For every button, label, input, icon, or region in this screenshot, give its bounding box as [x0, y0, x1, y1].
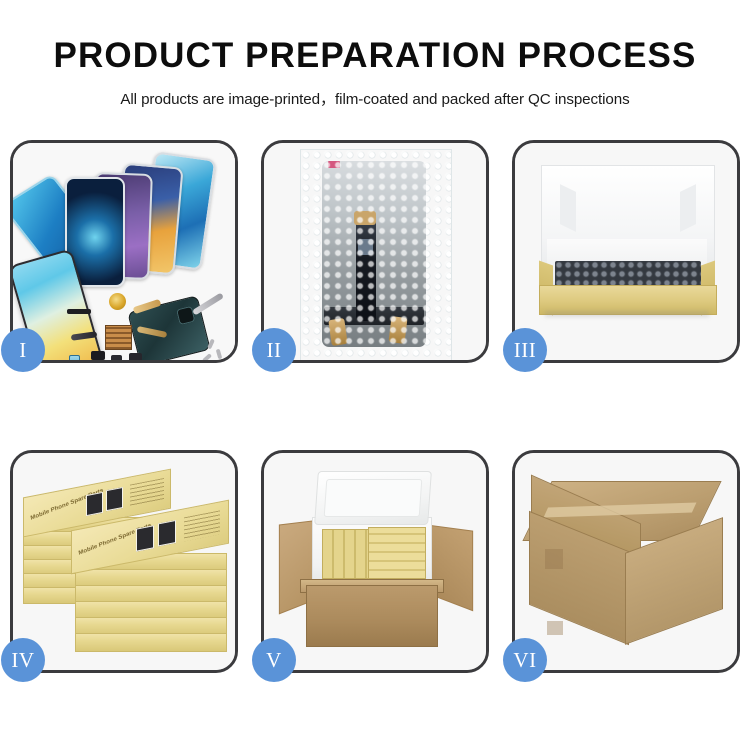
process-step-panel-3[interactable]: III: [512, 140, 740, 363]
step-badge-1: I: [1, 328, 45, 372]
step-badge-3: III: [503, 328, 547, 372]
step-5-image: [264, 453, 486, 670]
step-badge-5: V: [252, 638, 296, 682]
step-badge-4: IV: [1, 638, 45, 682]
process-step-grid: I II III: [10, 140, 740, 690]
step-4-image: Mobile Phone Spare Parts Mobile Phone Sp…: [13, 453, 235, 670]
coil-part: [109, 293, 126, 310]
step-3-image: [515, 143, 737, 360]
step-badge-2: II: [252, 328, 296, 372]
step-2-image: [264, 143, 486, 360]
box-stack: Mobile Phone Spare Parts Mobile Phone Sp…: [19, 469, 235, 659]
bag-seal-tab: [328, 161, 340, 168]
process-step-panel-6[interactable]: VI: [512, 450, 740, 673]
chip-a: [91, 351, 105, 360]
box-spec-lines: [184, 510, 220, 541]
process-step-panel-1[interactable]: I: [10, 140, 238, 363]
box-shadow: [545, 311, 709, 317]
step-6-image: [515, 453, 737, 670]
lid-flap-left: [560, 184, 576, 232]
step-badge-6: VI: [503, 638, 547, 682]
box-spec-lines: [130, 478, 164, 507]
speaker-bar-part: [67, 309, 91, 314]
page-header: PRODUCT PREPARATION PROCESS All products…: [0, 0, 750, 109]
step-1-image: [13, 143, 235, 360]
carton-tab-upper: [545, 549, 563, 569]
process-step-panel-2[interactable]: II: [261, 140, 489, 363]
lid-flap-right: [680, 184, 696, 232]
box-product-image: [136, 525, 154, 551]
lcd-flex-strip: [356, 217, 376, 321]
process-step-panel-4[interactable]: Mobile Phone Spare Parts Mobile Phone Sp…: [10, 450, 238, 673]
carton-body: [306, 585, 438, 647]
chip-c: [129, 353, 142, 360]
box-product-image: [86, 492, 103, 516]
lcd-driver-chip: [358, 239, 373, 255]
stacked-box: [75, 633, 227, 652]
process-step-panel-5[interactable]: V: [261, 450, 489, 673]
carton-tab-lower: [547, 621, 563, 635]
box-product-image: [106, 487, 123, 511]
box-product-image: [158, 520, 176, 546]
inner-yellow-boxes-row-2: [368, 527, 426, 579]
lcd-tape-b: [388, 316, 407, 344]
copper-grid-part: [105, 325, 132, 350]
foam-lid-inner: [324, 479, 423, 517]
lcd-tape-a: [328, 318, 347, 346]
lcd-connector: [354, 211, 376, 225]
page-title: PRODUCT PREPARATION PROCESS: [0, 0, 750, 76]
page-subtitle: All products are image-printed，film-coat…: [0, 76, 750, 109]
battery-part: [69, 355, 80, 360]
foam-lid: [314, 471, 432, 525]
chip-b: [111, 355, 122, 360]
